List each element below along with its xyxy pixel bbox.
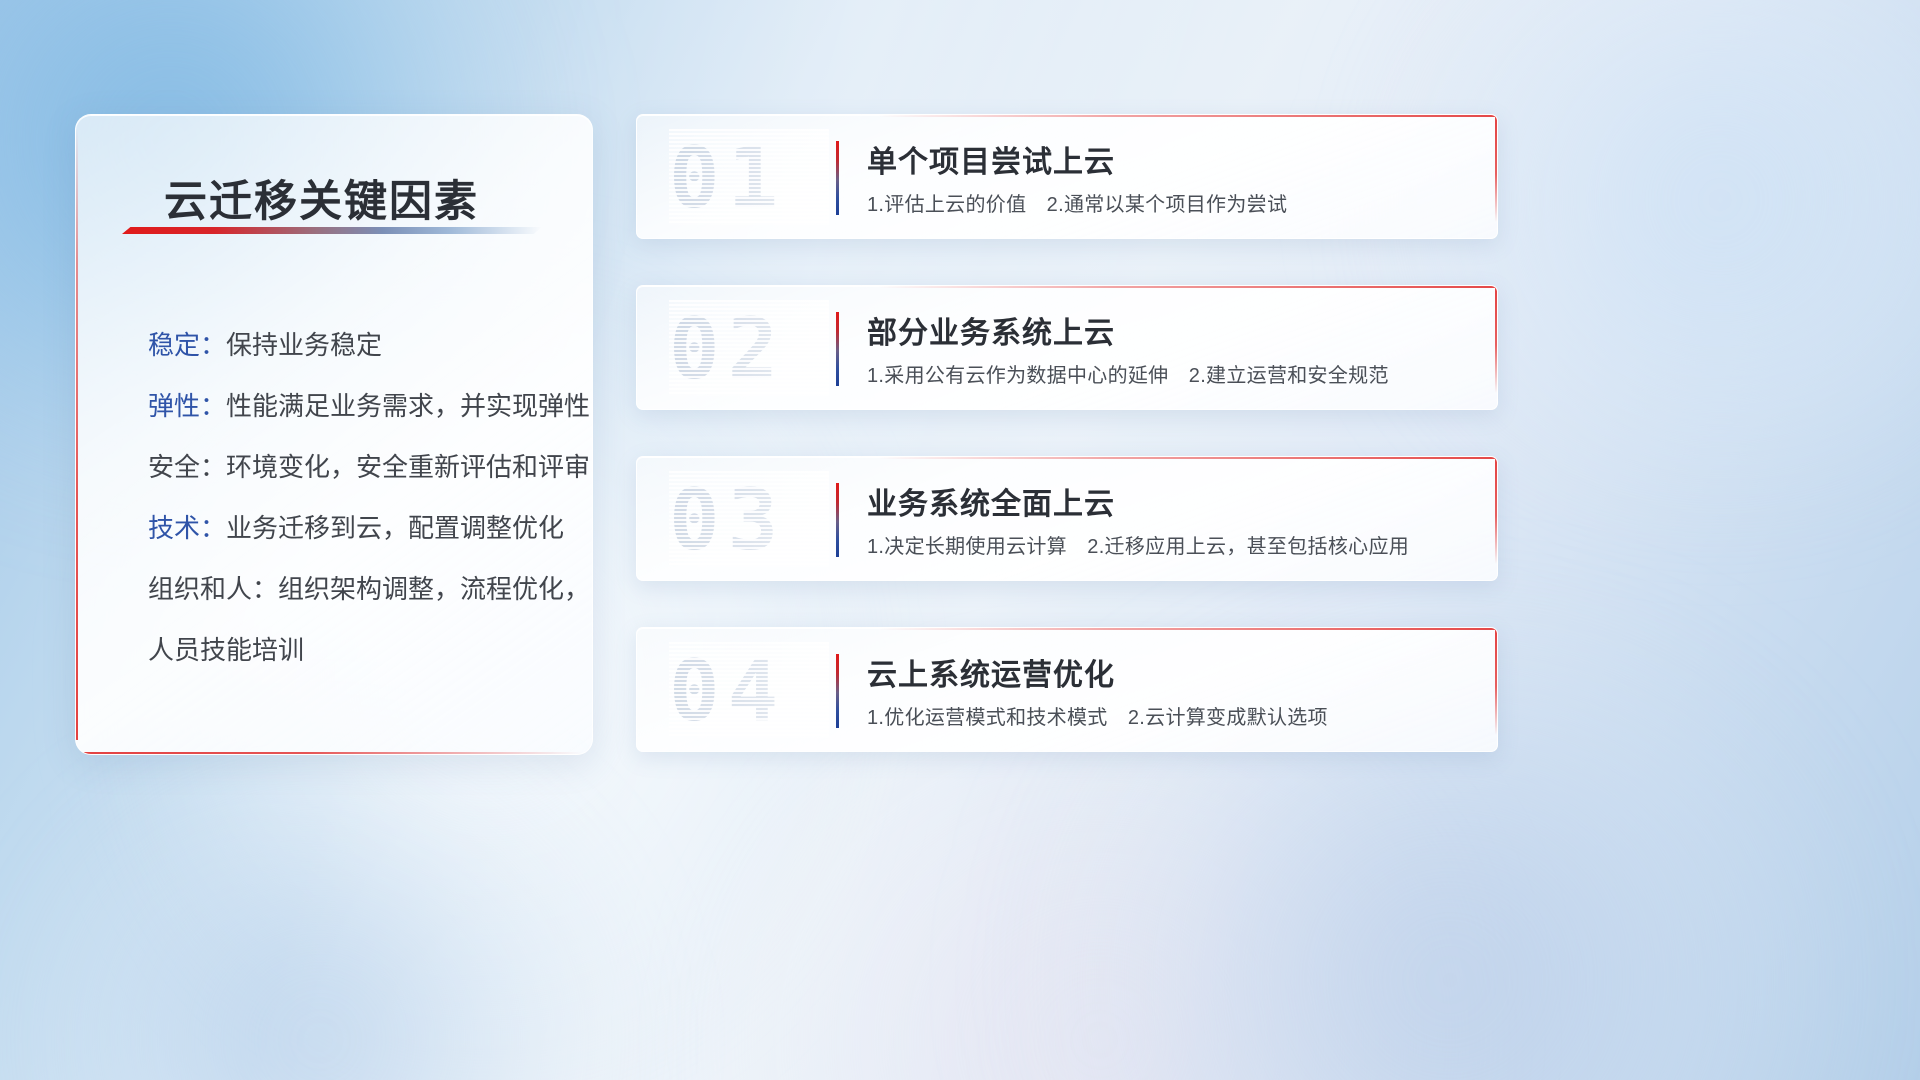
key-factor-text: 业务迁移到云，配置调整优化: [226, 513, 564, 543]
key-factor-text: 组织架构调整，流程优化，: [278, 574, 590, 604]
step-title: 单个项目尝试上云: [867, 137, 1115, 181]
step-description: 1.优化运营模式和技术模式 2.云计算变成默认选项: [867, 701, 1328, 730]
key-factors-panel: 云迁移关键因素 稳定：保持业务稳定弹性：性能满足业务需求，并实现弹性安全：环境变…: [75, 114, 593, 755]
key-factor-row: 安全：环境变化，安全重新评估和评审: [148, 437, 564, 498]
key-factor-row: 组织和人：组织架构调整，流程优化，: [148, 559, 564, 620]
card-top-accent-edge: [878, 115, 1497, 117]
key-factor-text: 保持业务稳定: [226, 330, 382, 360]
step-title: 业务系统全面上云: [867, 479, 1115, 523]
key-factor-text: 环境变化，安全重新评估和评审: [226, 452, 590, 482]
key-factor-text: 人员技能培训: [148, 635, 304, 665]
slide-stage: 云迁移关键因素 稳定：保持业务稳定弹性：性能满足业务需求，并实现弹性安全：环境变…: [0, 0, 1920, 1080]
step-number-text: 03: [669, 471, 786, 567]
step-divider-bar: [836, 141, 839, 215]
step-number-graphic: 04: [669, 642, 829, 738]
step-number-text: 01: [669, 129, 786, 225]
key-factor-row: 人员技能培训: [148, 620, 564, 681]
step-number-text: 04: [669, 642, 786, 738]
card-top-accent-edge: [878, 286, 1497, 288]
step-divider-bar: [836, 312, 839, 386]
migration-step-card[interactable]: 01单个项目尝试上云1.评估上云的价值 2.通常以某个项目作为尝试: [636, 114, 1498, 239]
step-title: 云上系统运营优化: [867, 650, 1115, 694]
migration-step-card[interactable]: 04云上系统运营优化1.优化运营模式和技术模式 2.云计算变成默认选项: [636, 627, 1498, 752]
card-top-accent-edge: [878, 457, 1497, 459]
panel-left-accent-edge: [76, 129, 78, 740]
key-factor-label: 技术：: [148, 513, 226, 543]
key-factor-label: 弹性：: [148, 391, 226, 421]
card-right-accent-edge: [1495, 457, 1497, 564]
step-number-graphic: 03: [669, 471, 829, 567]
page-title: 云迁移关键因素: [164, 167, 479, 229]
step-divider-bar: [836, 483, 839, 557]
step-description: 1.决定长期使用云计算 2.迁移应用上云，甚至包括核心应用: [867, 530, 1409, 559]
key-factor-row: 稳定：保持业务稳定: [148, 315, 564, 376]
card-right-accent-edge: [1495, 286, 1497, 393]
step-title: 部分业务系统上云: [867, 308, 1115, 352]
key-factor-label: 稳定：: [148, 330, 226, 360]
step-number-graphic: 01: [669, 129, 829, 225]
step-number-text: 02: [669, 300, 786, 396]
key-factor-text: 性能满足业务需求，并实现弹性: [226, 391, 590, 421]
card-top-accent-edge: [878, 628, 1497, 630]
card-right-accent-edge: [1495, 628, 1497, 735]
key-factor-row: 技术：业务迁移到云，配置调整优化: [148, 498, 564, 559]
step-description: 1.评估上云的价值 2.通常以某个项目作为尝试: [867, 188, 1287, 217]
key-factor-row: 弹性：性能满足业务需求，并实现弹性: [148, 376, 564, 437]
key-factor-label: 安全：: [148, 452, 226, 482]
step-description: 1.采用公有云作为数据中心的延伸 2.建立运营和安全规范: [867, 359, 1389, 388]
migration-step-card[interactable]: 02部分业务系统上云1.采用公有云作为数据中心的延伸 2.建立运营和安全规范: [636, 285, 1498, 410]
migration-step-card[interactable]: 03业务系统全面上云1.决定长期使用云计算 2.迁移应用上云，甚至包括核心应用: [636, 456, 1498, 581]
step-divider-bar: [836, 654, 839, 728]
step-number-graphic: 02: [669, 300, 829, 396]
key-factor-label: 组织和人：: [148, 574, 278, 604]
card-right-accent-edge: [1495, 115, 1497, 222]
title-underline-rule: [122, 227, 542, 234]
panel-bottom-accent-edge: [82, 752, 582, 754]
key-factors-list: 稳定：保持业务稳定弹性：性能满足业务需求，并实现弹性安全：环境变化，安全重新评估…: [148, 315, 564, 681]
